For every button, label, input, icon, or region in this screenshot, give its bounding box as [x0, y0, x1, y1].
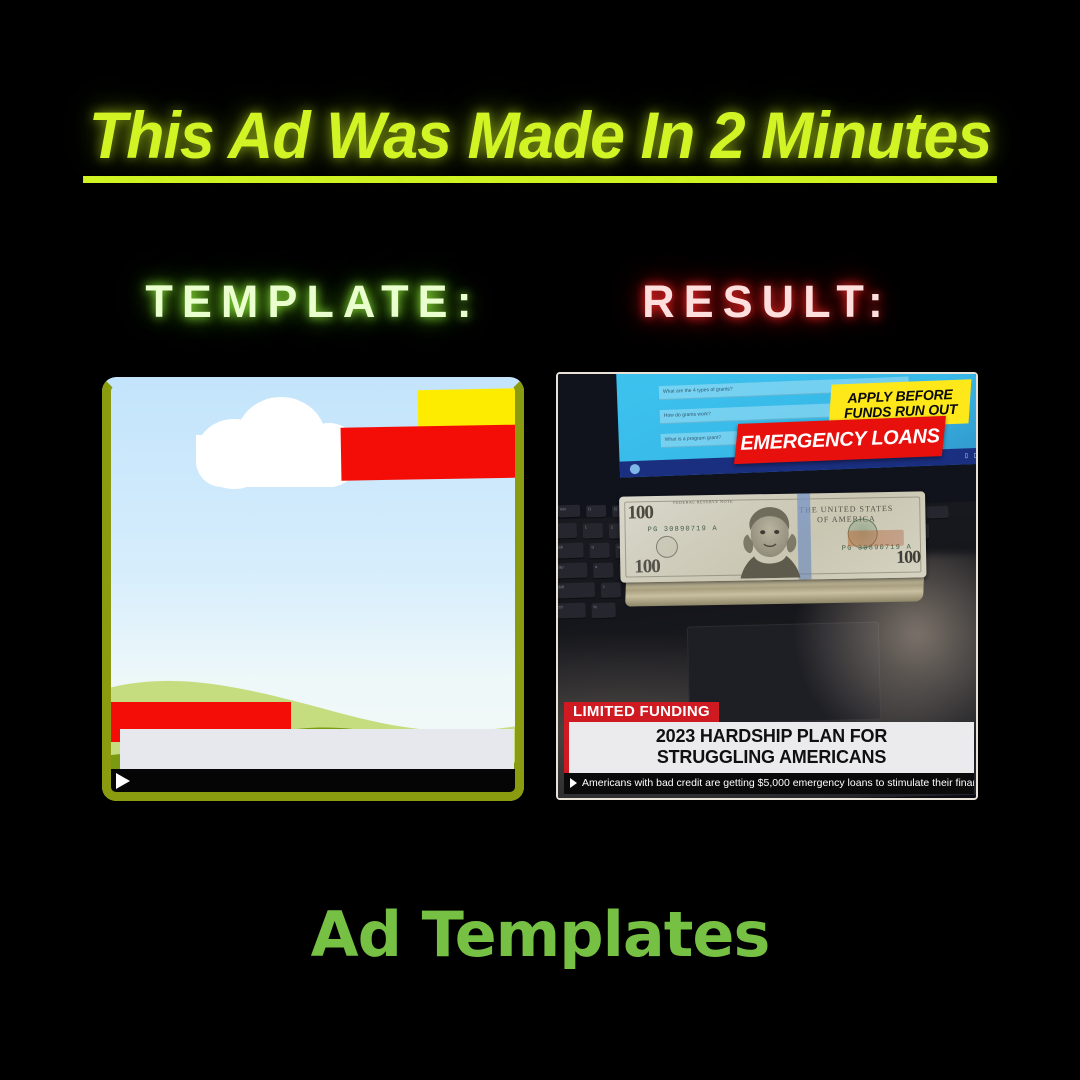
money-stack: FEDERAL RESERVE NOTE 100 THE UNITED STAT…	[619, 491, 929, 606]
section-labels: TEMPLATE: RESULT:	[0, 272, 1080, 336]
template-canvas	[102, 377, 524, 801]
template-white-headline-bar[interactable]	[120, 729, 514, 772]
template-red-headline-placeholder[interactable]	[341, 424, 524, 480]
headline-container: This Ad Was Made In 2 Minutes	[0, 102, 1080, 183]
play-triangle-icon	[570, 778, 577, 788]
bill-denomination-bottom-left: 100	[634, 556, 660, 578]
bill-serial-left: PG 30890719 A	[648, 525, 718, 534]
lower-third-headline-line1: 2023 HARDSHIP PLAN FOR	[656, 726, 887, 746]
lower-third: LIMITED FUNDING 2023 HARDSHIP PLAN FOR S…	[560, 702, 974, 794]
bill-denomination-bottom-right: 100	[896, 546, 920, 567]
bill-top-text: FEDERAL RESERVE NOTE	[673, 499, 733, 505]
limited-funding-badge: LIMITED FUNDING	[564, 702, 719, 722]
hundred-dollar-bill: FEDERAL RESERVE NOTE 100 THE UNITED STAT…	[619, 491, 926, 582]
emergency-loans-badge[interactable]: EMERGENCY LOANS	[734, 416, 946, 464]
brand-name: Ad Templates	[311, 898, 770, 971]
play-triangle-icon	[116, 773, 130, 789]
page-title: This Ad Was Made In 2 Minutes	[83, 102, 997, 183]
taskbar-tray: ▯ ▯ ⌁ 4:48	[965, 451, 976, 460]
lower-third-ticker: Americans with bad credit are getting $5…	[564, 773, 974, 794]
bill-security-ribbon	[848, 530, 904, 547]
emergency-loans-text: EMERGENCY LOANS	[735, 416, 944, 464]
lower-third-headline: 2023 HARDSHIP PLAN FOR STRUGGLING AMERIC…	[564, 722, 974, 773]
lower-third-ticker-text: Americans with bad credit are getting $5…	[582, 777, 974, 789]
lower-third-headline-line2: STRUGGLING AMERICANS	[657, 747, 886, 767]
taskbar-start-icon	[630, 464, 640, 474]
franklin-portrait	[727, 499, 812, 578]
bill-center-line1: THE UNITED STATES	[799, 504, 893, 515]
result-preview-panel[interactable]: What are the 4 types of grants? How do g…	[556, 372, 978, 800]
footer-container: Ad Templates	[0, 898, 1080, 971]
bill-center-text: THE UNITED STATES OF AMERICA	[799, 504, 893, 526]
lower-third-badge-row: LIMITED FUNDING	[560, 702, 974, 722]
label-template: TEMPLATE:	[102, 272, 524, 332]
label-result: RESULT:	[556, 272, 978, 332]
bill-denomination-top-left: 100	[627, 502, 653, 524]
template-preview-panel[interactable]	[102, 377, 524, 801]
apply-before-badge-text: APPLY BEFOREFUNDS RUN OUT	[830, 379, 971, 421]
template-black-ticker-bar[interactable]	[111, 769, 515, 792]
result-photo: What are the 4 types of grants? How do g…	[558, 374, 976, 798]
